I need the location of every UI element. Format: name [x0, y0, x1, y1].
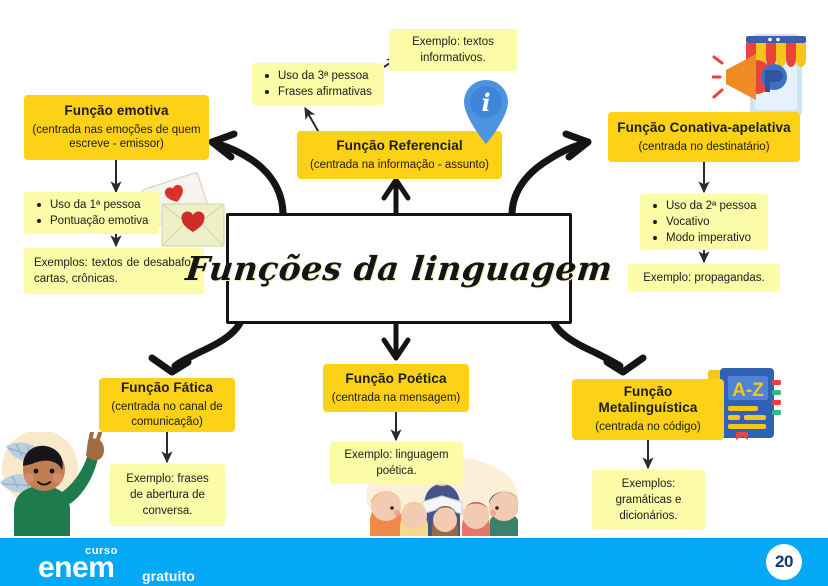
function-subtitle-metalinguistica: (centrada no código)	[595, 420, 700, 435]
function-title-poetica: Função Poética	[345, 371, 446, 387]
example-text: Exemplos: textos de desabafo, cartas, cr…	[34, 255, 194, 288]
trait-item: Modo imperativo	[664, 230, 758, 246]
function-box-emotiva[interactable]: Função emotiva (centrada nas emoções de …	[24, 95, 209, 160]
example-box-referencial: Exemplo: textos informativos.	[389, 29, 517, 71]
mindmap-canvas: i A-Z	[0, 0, 828, 586]
function-box-metalinguistica[interactable]: Função Metalinguística (centrada no códi…	[572, 379, 724, 440]
function-subtitle-poetica: (centrada na mensagem)	[332, 391, 460, 406]
trait-item: Uso da 2ª pessoa	[664, 198, 758, 214]
function-title-conativa: Função Conativa-apelativa	[617, 120, 791, 136]
example-box-fatica: Exemplo: frases de abertura de conversa.	[110, 464, 225, 526]
example-text: Exemplo: textos informativos.	[399, 34, 507, 67]
function-title-emotiva: Função emotiva	[64, 103, 168, 119]
function-box-poetica[interactable]: Função Poética (centrada na mensagem)	[323, 364, 469, 412]
example-text: Exemplos: gramáticas e dicionários.	[602, 476, 695, 525]
trait-item: Pontuação emotiva	[48, 213, 149, 229]
function-subtitle-referencial: (centrada na informação - assunto)	[310, 158, 489, 173]
traits-box-referencial: Uso da 3ª pessoa Frases afirmativas	[252, 63, 384, 105]
waving-person-icon	[0, 432, 108, 536]
footer-bar: enem curso gratuito 20	[0, 538, 828, 586]
function-box-referencial[interactable]: Função Referencial (centrada na informaç…	[297, 131, 502, 179]
example-box-conativa: Exemplo: propagandas.	[628, 264, 780, 292]
function-subtitle-conativa: (centrada no destinatário)	[638, 140, 769, 155]
brand-logo[interactable]: enem curso gratuito	[36, 544, 296, 584]
example-text: Exemplo: linguagem poética.	[340, 447, 453, 480]
page-title: Funções da linguagem	[184, 249, 615, 288]
function-title-referencial: Função Referencial	[336, 138, 462, 154]
example-box-metalinguistica: Exemplos: gramáticas e dicionários.	[592, 470, 705, 530]
svg-text:i: i	[481, 88, 490, 117]
trait-item: Vocativo	[664, 214, 758, 230]
traits-box-conativa: Uso da 2ª pessoa Vocativo Modo imperativ…	[640, 194, 768, 250]
trait-item: Uso da 1ª pessoa	[48, 197, 149, 213]
function-box-fatica[interactable]: Função Fática (centrada no canal de comu…	[99, 378, 235, 432]
center-title-box: Funções da linguagem	[226, 213, 572, 324]
example-box-emotiva: Exemplos: textos de desabafo, cartas, cr…	[24, 248, 204, 294]
logo-gratuito-text: gratuito	[142, 568, 195, 584]
svg-text:A-Z: A-Z	[732, 380, 764, 401]
example-text: Exemplo: frases de abertura de conversa.	[120, 471, 215, 520]
page-number-badge: 20	[766, 544, 802, 580]
function-title-metalinguistica: Função Metalinguística	[578, 384, 718, 416]
trait-item: Uso da 3ª pessoa	[276, 68, 374, 84]
logo-enem-text: enem	[38, 553, 114, 583]
function-title-fatica: Função Fática	[121, 380, 213, 396]
megaphone-phone-icon	[712, 18, 816, 124]
function-subtitle-fatica: (centrada no canal de comunicação)	[105, 400, 229, 430]
logo-curso-text: curso	[85, 545, 118, 557]
function-subtitle-emotiva: (centrada nas emoções de quem escreve - …	[30, 123, 203, 153]
trait-item: Frases afirmativas	[276, 84, 374, 100]
function-box-conativa[interactable]: Função Conativa-apelativa (centrada no d…	[608, 112, 800, 162]
example-box-poetica: Exemplo: linguagem poética.	[330, 442, 463, 484]
example-text: Exemplo: propagandas.	[638, 270, 770, 286]
traits-box-emotiva: Uso da 1ª pessoa Pontuação emotiva	[24, 192, 159, 234]
